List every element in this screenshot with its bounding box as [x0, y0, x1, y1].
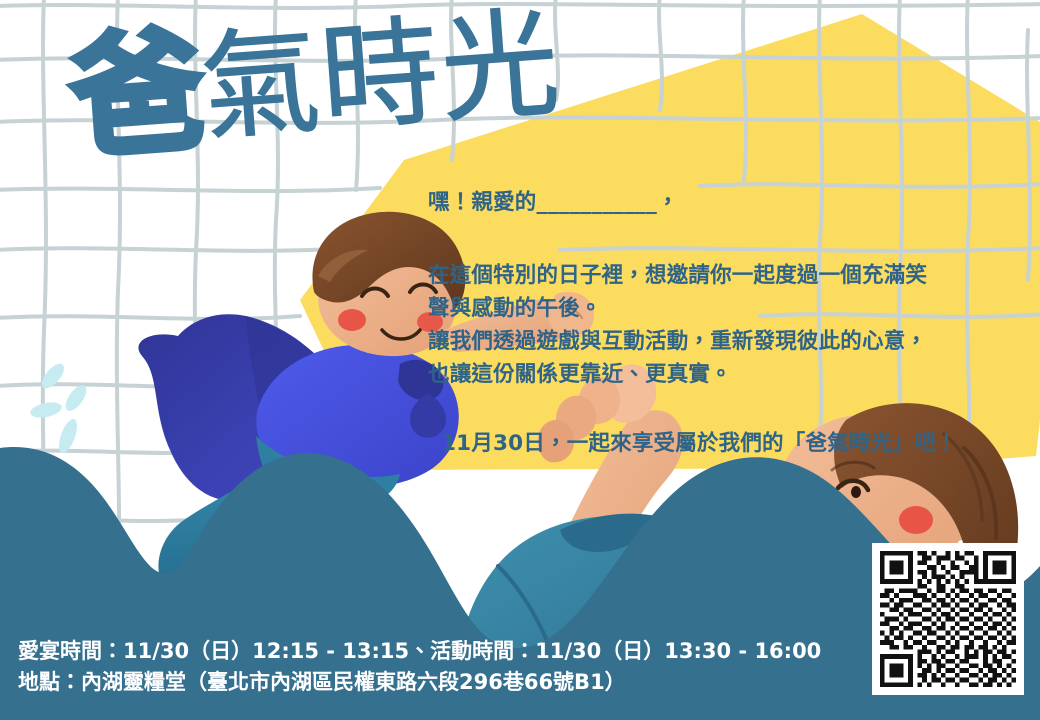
event-venue-line: 地點：內湖靈糧堂（臺北市內湖區民權東路六段296巷66號B1）: [18, 667, 821, 698]
poster-canvas: 爸氣時光 嘿！親愛的___________， 在這個特別的日子裡，想邀請你一起度…: [0, 0, 1040, 720]
paragraph-line-1: 在這個特別的日子裡，想邀請你一起度過一個充滿笑: [428, 259, 1016, 292]
event-details-footer: 愛宴時間：11/30（日）12:15 - 13:15、活動時間：11/30（日）…: [18, 636, 821, 698]
qr-code-image[interactable]: [880, 551, 1016, 687]
paragraph-line-2: 聲與感動的午後。: [428, 292, 1016, 325]
page-title: 爸氣時光: [67, 0, 565, 166]
event-time-line: 愛宴時間：11/30（日）12:15 - 13:15、活動時間：11/30（日）…: [18, 636, 821, 667]
title-char-main: 爸: [66, 14, 207, 177]
invitation-paragraph: 在這個特別的日子裡，想邀請你一起度過一個充滿笑 聲與感動的午後。 讓我們透過遊戲…: [428, 259, 1016, 391]
paragraph-line-3: 讓我們透過遊戲與互動活動，重新發現彼此的心意，: [428, 325, 1016, 358]
paragraph-line-4: 也讓這份關係更靠近、更真實。: [428, 358, 1016, 391]
invitation-body: 嘿！親愛的___________， 在這個特別的日子裡，想邀請你一起度過一個充滿…: [428, 186, 1016, 460]
title-chars-rest: 氣時光: [196, 0, 565, 157]
closing-call-to-action: 11月30日，一起來享受屬於我們的「爸氣時光」吧！: [428, 427, 1016, 460]
qr-code[interactable]: [872, 543, 1024, 695]
greeting-line: 嘿！親愛的___________，: [428, 186, 1016, 219]
